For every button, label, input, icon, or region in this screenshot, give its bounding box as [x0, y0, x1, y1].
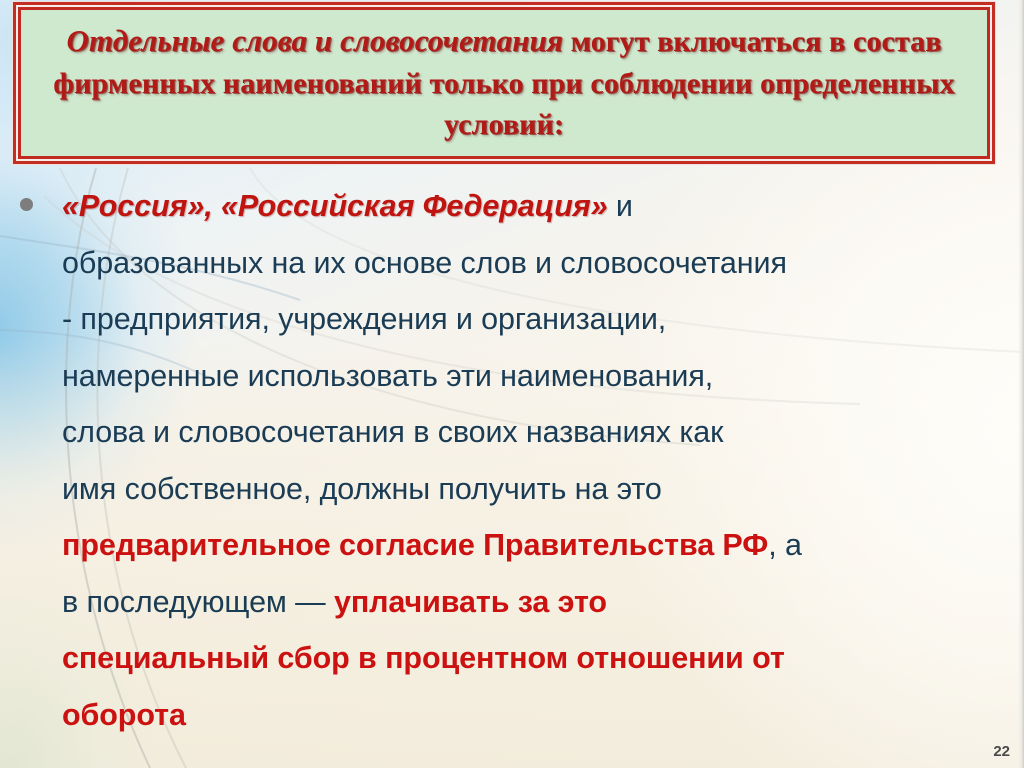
body-text-run: - предприятия, учреждения и организации,: [62, 302, 666, 336]
body-line: оборота: [62, 687, 1010, 744]
body-line: образованных на их основе слов и словосо…: [62, 235, 1010, 292]
body-line: специальный сбор в процентном отношении …: [62, 630, 1010, 687]
body-text-run: , а: [768, 528, 802, 562]
bullet-dot-icon: [20, 198, 33, 211]
body-text-run: имя собственное, должны получить на это: [62, 472, 662, 506]
body-text-run: образованных на их основе слов и словосо…: [62, 246, 787, 280]
body-text-run: слова и словосочетания в своих названиях…: [62, 415, 723, 449]
body-text-run: «Россия», «Российская Федерация»: [62, 189, 608, 223]
title-emphasis: Отдельные слова и словосочетания: [67, 23, 563, 58]
body-line: имя собственное, должны получить на это: [62, 461, 1010, 518]
body-text-run: и: [608, 189, 633, 223]
body-lines: «Россия», «Российская Федерация» иобразо…: [62, 178, 1010, 743]
body-text-run: предварительное согласие Правительства Р…: [62, 528, 768, 562]
body-text-run: уплачивать за это: [334, 585, 607, 619]
title-banner: Отдельные слова и словосочетания могут в…: [18, 7, 990, 159]
body-line: в последующем — уплачивать за это: [62, 574, 1010, 631]
slide-canvas: Отдельные слова и словосочетания могут в…: [0, 0, 1024, 768]
page-title: Отдельные слова и словосочетания могут в…: [21, 20, 987, 146]
body-line: намеренные использовать эти наименования…: [62, 348, 1010, 405]
right-edge-shade: [1018, 0, 1024, 768]
body-text-run: намеренные использовать эти наименования…: [62, 359, 713, 393]
page-number: 22: [993, 743, 1010, 760]
body-line: слова и словосочетания в своих названиях…: [62, 404, 1010, 461]
body-line: - предприятия, учреждения и организации,: [62, 291, 1010, 348]
body-text-run: оборота: [62, 698, 186, 732]
body-line: предварительное согласие Правительства Р…: [62, 517, 1010, 574]
body-text-run: в последующем —: [62, 585, 334, 619]
body-line: «Россия», «Российская Федерация» и: [62, 178, 1010, 235]
body-text-run: специальный сбор в процентном отношении …: [62, 641, 785, 675]
body-text-block: «Россия», «Российская Федерация» иобразо…: [62, 178, 1010, 743]
